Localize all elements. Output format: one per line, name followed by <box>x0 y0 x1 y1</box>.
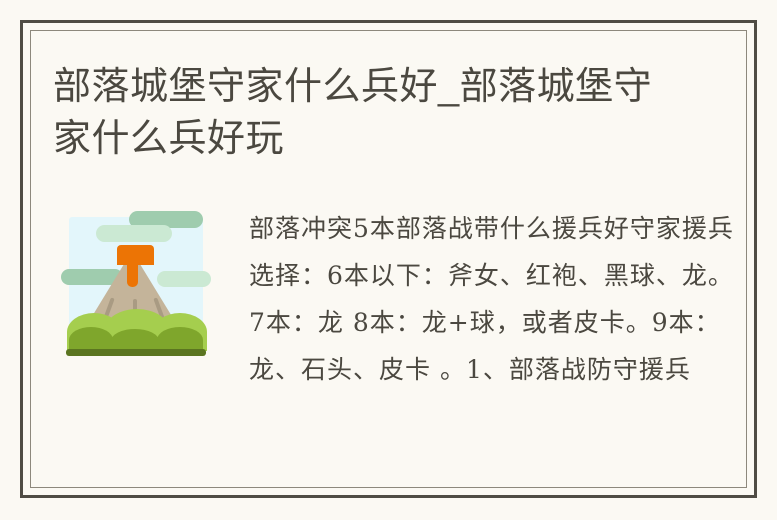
lava-flow <box>127 257 138 287</box>
page-title: 部落城堡守家什么兵好_部落城堡守家什么兵好玩 <box>53 61 653 165</box>
ground-bar <box>66 349 206 356</box>
article-body: 部落冲突5本部落战带什么援兵好守家援兵选择：6本以下：斧女、红袍、黑球、龙。7本… <box>249 205 734 393</box>
content-row: 部落冲突5本部落战带什么援兵好守家援兵选择：6本以下：斧女、红袍、黑球、龙。7本… <box>53 201 734 393</box>
cloud-icon <box>96 225 172 242</box>
volcano-illustration <box>61 209 211 361</box>
page-frame: 部落城堡守家什么兵好_部落城堡守家什么兵好玩 部落冲突5本部落战带什么援兵好守家… <box>20 20 757 498</box>
